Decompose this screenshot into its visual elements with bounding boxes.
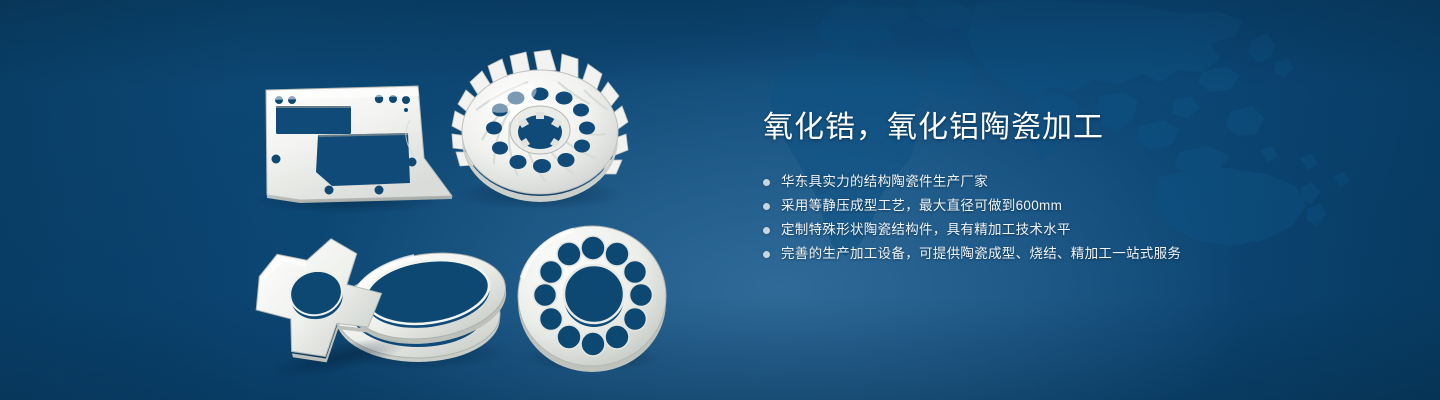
bullet-dot-icon: [763, 227, 770, 234]
bullet-dot-icon: [763, 203, 770, 210]
bullet-dot-icon: [763, 179, 770, 186]
list-item-label: 华东具实力的结构陶瓷件生产厂家: [781, 170, 988, 194]
list-item: 定制特殊形状陶瓷结构件，具有精加工技术水平: [763, 218, 1383, 242]
list-item-label: 采用等静压成型工艺，最大直径可做到600mm: [781, 194, 1062, 218]
ceramic-impeller-photo: [452, 50, 628, 210]
bullet-dot-icon: [763, 251, 770, 258]
list-item: 完善的生产加工设备，可提供陶瓷成型、烧结、精加工一站式服务: [763, 242, 1383, 266]
list-item-label: 定制特殊形状陶瓷结构件，具有精加工技术水平: [781, 218, 1071, 242]
feature-list: 华东具实力的结构陶瓷件生产厂家 采用等静压成型工艺，最大直径可做到600mm 定…: [763, 170, 1383, 266]
page-title: 氧化锆，氧化铝陶瓷加工: [763, 108, 1383, 148]
ceramic-hole-disc-photo: [518, 226, 666, 372]
list-item-label: 完善的生产加工设备，可提供陶瓷成型、烧结、精加工一站式服务: [781, 242, 1181, 266]
list-item: 华东具实力的结构陶瓷件生产厂家: [763, 170, 1383, 194]
ceramic-product-photos: [0, 0, 720, 400]
ceramic-processing-banner: 氧化锆，氧化铝陶瓷加工 华东具实力的结构陶瓷件生产厂家 采用等静压成型工艺，最大…: [0, 0, 1440, 400]
banner-copy: 氧化锆，氧化铝陶瓷加工 华东具实力的结构陶瓷件生产厂家 采用等静压成型工艺，最大…: [763, 108, 1383, 266]
ceramic-plate-photo: [255, 86, 452, 214]
list-item: 采用等静压成型工艺，最大直径可做到600mm: [763, 194, 1383, 218]
